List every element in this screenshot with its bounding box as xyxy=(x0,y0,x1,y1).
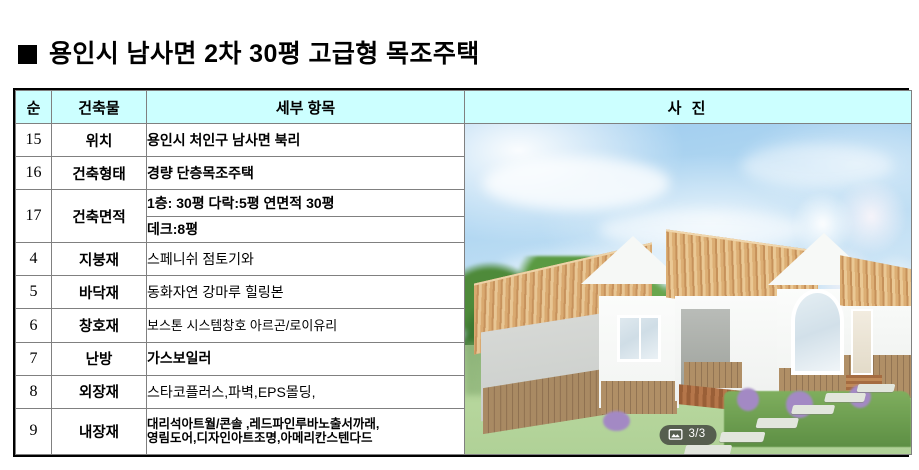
house-photo: 3/3 xyxy=(465,124,911,454)
row-detail: 스타코플러스,파벽,EPS몰딩, xyxy=(147,375,465,408)
row-category: 창호재 xyxy=(52,309,147,342)
row-category: 건축형태 xyxy=(52,157,147,190)
row-category: 위치 xyxy=(52,124,147,157)
table-row: 15 위치 용인시 처인구 남사면 북리 xyxy=(16,124,912,157)
row-no: 16 xyxy=(16,157,52,190)
row-detail-line: 대리석아트월/콘솔 ,레드파인루바노출서까래, xyxy=(147,417,464,432)
row-detail: 용인시 처인구 남사면 북리 xyxy=(147,124,465,157)
page-title: 용인시 남사면 2차 30평 고급형 목조주택 xyxy=(18,36,480,72)
page-title-text: 용인시 남사면 2차 30평 고급형 목조주택 xyxy=(49,42,480,67)
row-detail: 대리석아트월/콘솔 ,레드파인루바노출서까래, 영림도어,디자인아트조명,아메리… xyxy=(147,408,465,454)
row-no: 4 xyxy=(16,243,52,276)
column-header-detail: 세부 항목 xyxy=(147,91,465,124)
row-detail: 1층: 30평 다락:5평 연면적 30평 xyxy=(147,190,465,216)
row-category: 건축면적 xyxy=(52,190,147,243)
table-body: 15 위치 용인시 처인구 남사면 북리 xyxy=(16,124,912,455)
row-no: 5 xyxy=(16,276,52,309)
stone-base-front-left xyxy=(601,381,677,414)
photo-icon xyxy=(669,429,683,441)
bullet-square-icon xyxy=(18,45,37,64)
column-header-category: 건축물 xyxy=(52,91,147,124)
row-no: 7 xyxy=(16,342,52,375)
row-category: 바닥재 xyxy=(52,276,147,309)
spec-table-container: 순 건축물 세부 항목 사 진 15 위치 용인시 처인구 남사면 북리 xyxy=(13,88,909,457)
row-no: 8 xyxy=(16,375,52,408)
row-no: 6 xyxy=(16,309,52,342)
row-category: 난방 xyxy=(52,342,147,375)
arched-window xyxy=(791,289,845,375)
window-front-left xyxy=(617,315,662,361)
photo-cell: 3/3 xyxy=(465,124,912,455)
row-detail: 동화자연 강마루 힐링본 xyxy=(147,276,465,309)
row-detail: 경량 단층목조주택 xyxy=(147,157,465,190)
row-detail: 보스톤 시스템창호 아르곤/로이유리 xyxy=(147,309,465,342)
row-category: 외장재 xyxy=(52,375,147,408)
stepping-stone xyxy=(857,383,896,392)
row-detail: 스페니쉬 점토기와 xyxy=(147,243,465,276)
stepping-stone xyxy=(755,418,799,428)
photo-page-count: 3/3 xyxy=(689,429,706,441)
row-category: 내장재 xyxy=(52,408,147,454)
row-no: 9 xyxy=(16,408,52,454)
row-category: 지붕재 xyxy=(52,243,147,276)
row-detail: 가스보일러 xyxy=(147,342,465,375)
table-header-row: 순 건축물 세부 항목 사 진 xyxy=(16,91,912,124)
table-header: 순 건축물 세부 항목 사 진 xyxy=(16,91,912,124)
stepping-stone xyxy=(791,405,835,414)
row-detail-line: 영림도어,디자인아트조명,아메리칸스텐다드 xyxy=(147,431,464,446)
column-header-no: 순 xyxy=(16,91,52,124)
column-header-photo: 사 진 xyxy=(465,91,912,124)
row-no: 17 xyxy=(16,190,52,243)
slide-page: 용인시 남사면 2차 30평 고급형 목조주택 순 건축물 세부 항목 사 진 … xyxy=(0,0,919,470)
stepping-stone xyxy=(683,444,732,454)
entry-door xyxy=(851,309,873,375)
stepping-stone xyxy=(824,393,866,402)
row-no: 15 xyxy=(16,124,52,157)
flower-cluster xyxy=(603,411,630,431)
photo-page-badge[interactable]: 3/3 xyxy=(660,425,717,445)
spec-table: 순 건축물 세부 항목 사 진 15 위치 용인시 처인구 남사면 북리 xyxy=(15,90,912,455)
row-detail-secondary: 데크:8평 xyxy=(147,216,465,242)
stepping-stone xyxy=(719,431,766,441)
